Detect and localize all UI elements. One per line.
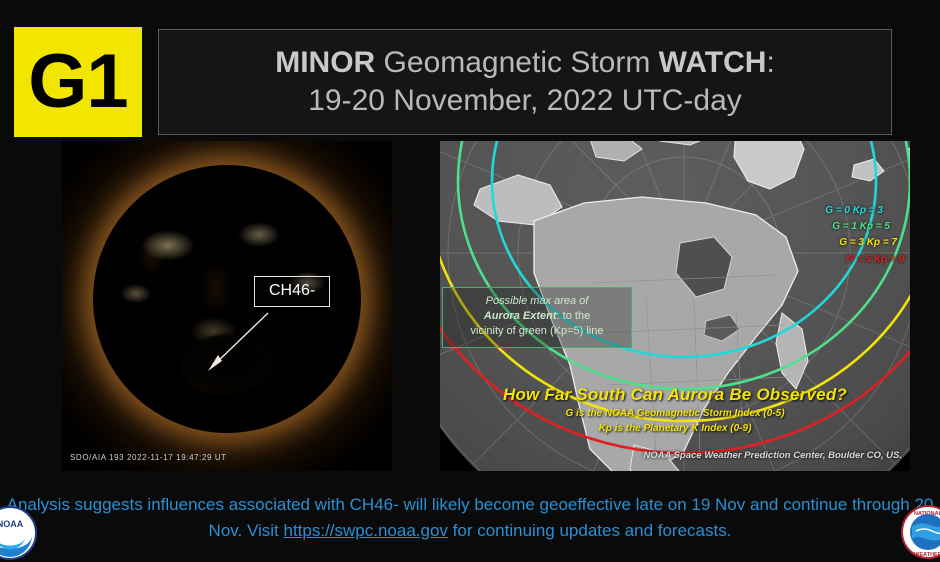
map-title-question: How Far South Can Aurora Be Observed? xyxy=(440,385,910,405)
aurora-note-emphasis: Aurora Extent xyxy=(484,310,557,322)
alert-title-middle: Geomagnetic Storm xyxy=(375,46,658,79)
svg-text:WEATHER: WEATHER xyxy=(914,552,940,558)
aurora-extent-note: Possible max area of Aurora Extent: to t… xyxy=(442,287,632,348)
alert-title-box: MINOR Geomagnetic Storm WATCH: 19-20 Nov… xyxy=(158,29,892,135)
alert-title-line-2: 19-20 November, 2022 UTC-day xyxy=(308,82,742,120)
legend-item-kp5: G = 1 Kp = 5 xyxy=(832,219,904,235)
coronal-hole-label: CH46- xyxy=(254,276,330,307)
alert-type-word: WATCH xyxy=(659,46,767,79)
aurora-note-line-3: vicinity of green (Kp=5) line xyxy=(448,324,626,339)
map-credit: NOAA Space Weather Prediction Center, Bo… xyxy=(643,450,902,461)
svg-text:NATIONAL: NATIONAL xyxy=(914,511,940,517)
alert-title-colon: : xyxy=(766,46,774,79)
aurora-note-line-2-rest: : to the xyxy=(557,310,591,322)
storm-scale-badge: G1 xyxy=(14,27,142,137)
swpc-website-link[interactable]: https://swpc.noaa.gov xyxy=(284,521,448,540)
alert-severity-word: MINOR xyxy=(275,46,375,79)
aurora-note-line-1: Possible max area of xyxy=(448,294,626,309)
analysis-footer-text: Analysis suggests influences associated … xyxy=(0,492,940,544)
aurora-kp-legend: G = 0 Kp = 3 G = 1 Kp = 5 G = 3 Kp = 7 G… xyxy=(825,203,904,268)
legend-item-kp7: G = 3 Kp = 7 xyxy=(839,235,904,251)
space-weather-alert-poster: G1 MINOR Geomagnetic Storm WATCH: 19-20 … xyxy=(0,0,940,562)
footer-text-after-link: for continuing updates and forecasts. xyxy=(448,521,732,540)
map-subtitle-kp-index: Kp is the Planetary K Index (0-9) xyxy=(440,422,910,435)
national-weather-service-logo-icon: NATIONAL WEATHER xyxy=(900,503,940,561)
aurora-arc-kp7 xyxy=(440,141,910,421)
storm-scale-level: G1 xyxy=(28,44,127,120)
legend-item-kp9: G = 5 Kp = 9 xyxy=(846,252,904,268)
map-subtitle-g-index: G is the NOAA Geomagnetic Storm Index (0… xyxy=(440,407,910,420)
aurora-extent-map-panel: G = 0 Kp = 3 G = 1 Kp = 5 G = 3 Kp = 7 G… xyxy=(440,141,910,471)
aurora-note-line-2: Aurora Extent: to the xyxy=(448,309,626,324)
legend-item-kp3: G = 0 Kp = 3 xyxy=(825,203,904,219)
noaa-logo-icon: NOAA xyxy=(0,505,38,561)
solar-image-caption: SDO/AIA 193 2022-11-17 19:47:29 UT xyxy=(70,453,227,462)
alert-title-line-1: MINOR Geomagnetic Storm WATCH: xyxy=(275,44,775,82)
solar-image-panel: CH46- SDO/AIA 193 2022-11-17 19:47:29 UT xyxy=(62,141,392,471)
map-title-block: How Far South Can Aurora Be Observed? G … xyxy=(440,385,910,435)
svg-text:NOAA: NOAA xyxy=(0,519,24,529)
